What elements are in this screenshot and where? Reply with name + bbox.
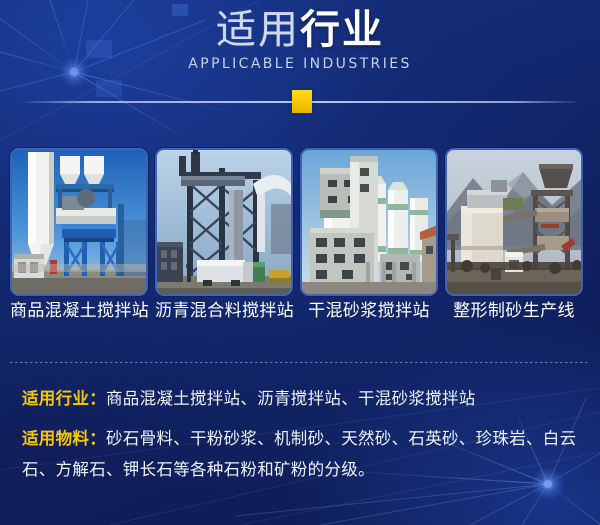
section-divider: [10, 362, 590, 363]
dry-mix-mortar-plant-photo: [302, 150, 436, 294]
industry-label: 整形制砂生产线: [445, 299, 583, 323]
industry-label-row: 商品混凝土搅拌站 沥青混合料搅拌站 干混砂浆搅拌站 整形制砂生产线: [10, 299, 590, 323]
page-title: 适用行业: [0, 7, 600, 53]
commercial-concrete-mixing-plant-photo: [12, 150, 146, 294]
page-title-soft: 适用: [216, 7, 300, 53]
detail-row-industries: 适用行业：商品混凝土搅拌站、沥青搅拌站、干混砂浆搅拌站: [22, 383, 582, 414]
industry-card[interactable]: [300, 148, 438, 296]
detail-key: 适用物料：: [22, 429, 106, 448]
detail-value: 商品混凝土搅拌站、沥青搅拌站、干混砂浆搅拌站: [106, 389, 476, 408]
industry-label: 沥青混合料搅拌站: [155, 299, 293, 323]
detail-key: 适用行业：: [22, 389, 106, 408]
industry-card-row: [10, 148, 590, 296]
industry-card[interactable]: [445, 148, 583, 296]
page-title-strong: 行业: [300, 7, 384, 53]
detail-value: 砂石骨料、干粉砂浆、机制砂、天然砂、石英砂、珍珠岩、白云石、方解石、钾长石等各种…: [22, 429, 576, 479]
header-divider-marker: [292, 90, 312, 113]
page-subtitle: APPLICABLE INDUSTRIES: [0, 55, 600, 73]
details-text-block: 适用行业：商品混凝土搅拌站、沥青搅拌站、干混砂浆搅拌站 适用物料：砂石骨料、干粉…: [22, 383, 582, 485]
asphalt-mixing-plant-photo: [157, 150, 291, 294]
sand-making-production-line-photo: [447, 150, 581, 294]
applicable-industries-banner: 适用行业 APPLICABLE INDUSTRIES: [0, 0, 600, 525]
industry-card[interactable]: [155, 148, 293, 296]
detail-row-materials: 适用物料：砂石骨料、干粉砂浆、机制砂、天然砂、石英砂、珍珠岩、白云石、方解石、钾…: [22, 423, 582, 485]
header: 适用行业 APPLICABLE INDUSTRIES: [0, 0, 600, 130]
industry-label: 商品混凝土搅拌站: [10, 299, 148, 323]
industry-label: 干混砂浆搅拌站: [300, 299, 438, 323]
industry-card[interactable]: [10, 148, 148, 296]
